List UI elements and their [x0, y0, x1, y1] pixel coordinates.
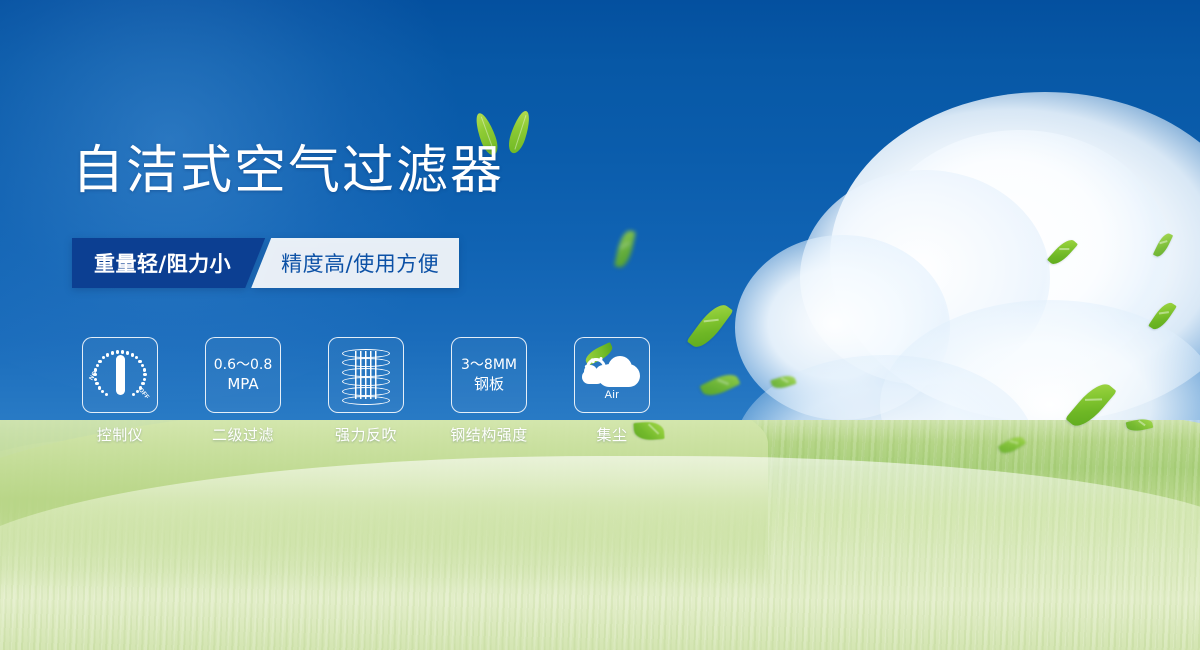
coil-ring: [342, 358, 390, 367]
coil-ring: [342, 377, 390, 386]
feature-label: 控制仪: [97, 424, 144, 445]
subtitle-banner: 重量轻/阻力小 精度高/使用方便: [72, 238, 459, 288]
feature-item-pressure[interactable]: 0.6～0.8 MPA 二级过滤: [205, 337, 281, 445]
feature-item-dust[interactable]: Air 集尘: [574, 337, 650, 445]
hero-banner: 自洁式空气过滤器 重量轻/阻力小 精度高/使用方便 NO OFF 控制仪: [0, 0, 1200, 650]
feature-item-steel[interactable]: 3～8MM 钢板 钢结构强度: [451, 337, 527, 445]
coil-ring: [342, 396, 390, 405]
gauge-dot: [105, 393, 108, 396]
gauge-dot: [138, 360, 141, 363]
sun-ray: [599, 356, 602, 361]
subtitle-left-segment: 重量轻/阻力小: [72, 238, 265, 288]
feature-label: 二级过滤: [212, 424, 274, 445]
gauge-dot: [101, 390, 104, 393]
page-title: 自洁式空气过滤器: [72, 143, 504, 199]
gauge-dot: [96, 364, 99, 367]
feature-icon-box: Air: [574, 337, 650, 413]
feature-list: NO OFF 控制仪 0.6～0.8 MPA 二级过滤 强: [82, 337, 650, 445]
feature-label: 集尘: [596, 424, 627, 445]
grass-field: [0, 420, 1200, 650]
gauge-dot: [141, 364, 144, 367]
gauge-dot: [143, 373, 146, 376]
gauge-dot: [94, 368, 97, 371]
feature-label: 强力反吹: [335, 424, 397, 445]
feature-label: 钢结构强度: [450, 424, 528, 445]
sun-ray: [590, 358, 595, 364]
coil-ring: [342, 387, 390, 396]
coil-ring: [342, 368, 390, 377]
subtitle-right-segment: 精度高/使用方便: [251, 238, 459, 288]
subtitle-right-text: 精度高/使用方便: [281, 248, 439, 278]
gauge-dot: [102, 356, 105, 359]
feature-icon-box: NO OFF: [82, 337, 158, 413]
gauge-dot: [121, 350, 124, 353]
coil-ring: [342, 349, 390, 358]
gauge-dot: [132, 393, 135, 396]
steel-icon: 3～8MM 钢板: [461, 357, 517, 394]
subtitle-left-text: 重量轻/阻力小: [94, 248, 231, 278]
feature-icon-box: 0.6～0.8 MPA: [205, 337, 281, 413]
air-cloud-icon: Air: [582, 352, 642, 398]
gauge-dot: [116, 350, 119, 353]
gauge-dot: [98, 386, 101, 389]
feature-item-control[interactable]: NO OFF 控制仪: [82, 337, 158, 445]
gauge-dot: [98, 360, 101, 363]
gauge-dot: [135, 356, 138, 359]
gauge-dot: [111, 351, 114, 354]
pressure-value: 0.6～0.8: [214, 357, 273, 373]
gauge-dot: [143, 368, 146, 371]
gauge-dot: [139, 386, 142, 389]
feature-icon-box: 3～8MM 钢板: [451, 337, 527, 413]
cloud-body: [598, 364, 640, 387]
gauge-icon: NO OFF: [89, 347, 151, 403]
gauge-dot: [93, 373, 96, 376]
gauge-dot: [94, 378, 97, 381]
gauge-dot: [143, 378, 146, 381]
feature-icon-box: [328, 337, 404, 413]
gauge-needle: [116, 355, 125, 395]
air-label: Air: [582, 389, 642, 401]
gauge-dot: [131, 353, 134, 356]
gauge-dot: [106, 353, 109, 356]
pressure-unit: MPA: [214, 375, 273, 393]
pressure-icon: 0.6～0.8 MPA: [214, 357, 273, 394]
gauge-dot: [141, 382, 144, 385]
gauge-dot: [126, 351, 129, 354]
gauge-dot: [95, 382, 98, 385]
steel-material: 钢板: [461, 375, 517, 393]
steel-thickness: 3～8MM: [461, 357, 517, 373]
coil-icon: [342, 347, 390, 403]
feature-item-blowback[interactable]: 强力反吹: [328, 337, 404, 445]
